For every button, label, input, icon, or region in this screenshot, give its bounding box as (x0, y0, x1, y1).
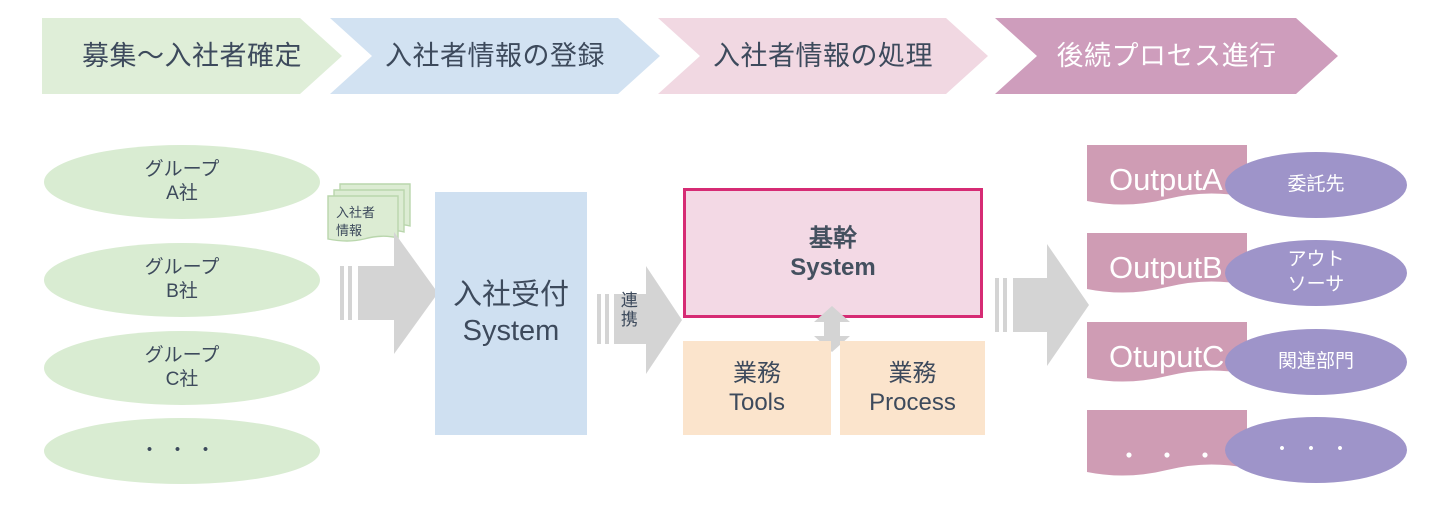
source-ellipse-4: ・・・ (44, 418, 320, 484)
output-doc-label-more: ・・・ (1117, 436, 1231, 471)
phase-chevron-3: 入社者情報の処理 (658, 18, 988, 94)
diagram-canvas: 募集〜入社者確定 入社者情報の登録 入社者情報の処理 後続プロセス進行 グループ… (0, 0, 1440, 522)
phase-label-3: 入社者情報の処理 (713, 43, 933, 70)
source-label-1-line1: グループ (145, 158, 220, 182)
arrow-right-striped-outputs-svg (993, 244, 1089, 366)
output-ellipse-label-more: ・・・ (1272, 438, 1359, 463)
document-stack-line1: 入社者 (336, 204, 398, 222)
output-ellipse-label-B-line2: ソーサ (1287, 273, 1344, 298)
task-box-tools: 業務 Tools (683, 341, 831, 435)
output-doc-label-C: OtuputC (1109, 339, 1224, 375)
task-process-line2: Process (869, 388, 956, 417)
output-ellipse-label-B-line1: アウト (1287, 248, 1344, 273)
task-process-line1: 業務 (889, 359, 937, 388)
source-ellipse-3: グループ C社 (44, 331, 320, 405)
output-ellipse-label-C: 関連部門 (1278, 350, 1354, 375)
phase-chevron-1: 募集〜入社者確定 (42, 18, 342, 94)
arrow-linkage-label: 連携 (620, 292, 639, 329)
output-ellipse-B: アウト ソーサ (1225, 240, 1407, 306)
output-doc-C: OtuputC (1087, 322, 1247, 388)
source-label-4: ・・・ (140, 439, 224, 463)
output-doc-B: OutputB (1087, 233, 1247, 299)
source-label-2-line1: グループ (145, 256, 220, 280)
output-doc-label-A: OutputA (1109, 162, 1223, 198)
source-ellipse-2: グループ B社 (44, 243, 320, 317)
source-label-1-line2: A社 (145, 182, 220, 206)
output-doc-more: ・・・ (1087, 410, 1247, 482)
output-ellipse-label-A: 委託先 (1287, 173, 1344, 198)
arrow-sources-to-reception (338, 232, 438, 354)
source-label-3-line2: C社 (145, 368, 220, 392)
task-tools-line2: Tools (729, 388, 785, 417)
reception-system-line2: System (463, 314, 560, 349)
output-doc-A: OutputA (1087, 145, 1247, 211)
output-ellipse-more: ・・・ (1225, 417, 1407, 483)
task-box-process: 業務 Process (840, 341, 985, 435)
task-tools-line1: 業務 (733, 359, 781, 388)
source-ellipse-1: グループ A社 (44, 145, 320, 219)
source-label-3-line1: グループ (145, 344, 220, 368)
phase-chevron-2: 入社者情報の登録 (330, 18, 660, 94)
source-label-2-line2: B社 (145, 280, 220, 304)
reception-system-box: 入社受付 System (435, 192, 587, 435)
phase-label-4: 後続プロセス進行 (1057, 43, 1277, 70)
core-system-line2: System (790, 253, 875, 282)
phase-chevron-4: 後続プロセス進行 (995, 18, 1338, 94)
output-doc-label-B: OutputB (1109, 250, 1223, 286)
output-ellipse-C: 関連部門 (1225, 329, 1407, 395)
arrow-right-striped-svg (338, 232, 438, 354)
arrow-linkage-svg (596, 266, 682, 374)
core-system-line1: 基幹 (809, 224, 857, 253)
phase-label-1: 募集〜入社者確定 (82, 43, 302, 70)
core-system-box: 基幹 System (683, 188, 983, 318)
arrow-core-to-outputs (993, 244, 1089, 366)
output-ellipse-A: 委託先 (1225, 152, 1407, 218)
arrow-reception-to-core: 連携 (596, 266, 682, 374)
phase-label-2: 入社者情報の登録 (385, 43, 605, 70)
reception-system-line1: 入社受付 (453, 278, 569, 313)
